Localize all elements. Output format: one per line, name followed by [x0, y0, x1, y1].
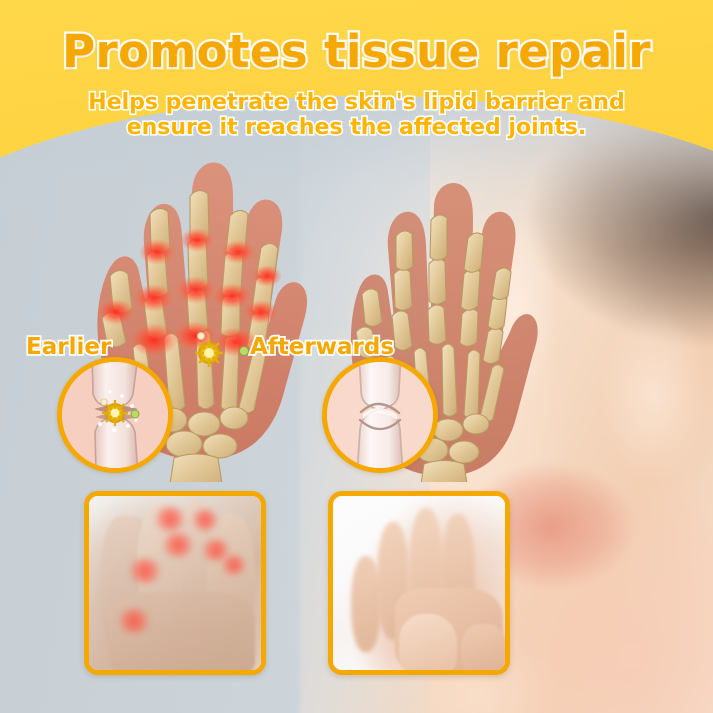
page-title: Promotes tissue repair — [0, 25, 713, 78]
page-subtitle: Helps penetrate the skin's lipid barrier… — [0, 90, 713, 140]
arthritic-hands-photo — [84, 491, 266, 675]
caption-afterwards: Afterwards — [250, 334, 394, 360]
caption-earlier: Earlier — [26, 334, 111, 360]
healthy-hand-photo — [328, 491, 510, 675]
diseased-joint-closeup — [57, 357, 173, 473]
infographic-canvas: Earlier Afterwards — [0, 0, 713, 713]
healthy-joint-closeup — [322, 357, 438, 473]
